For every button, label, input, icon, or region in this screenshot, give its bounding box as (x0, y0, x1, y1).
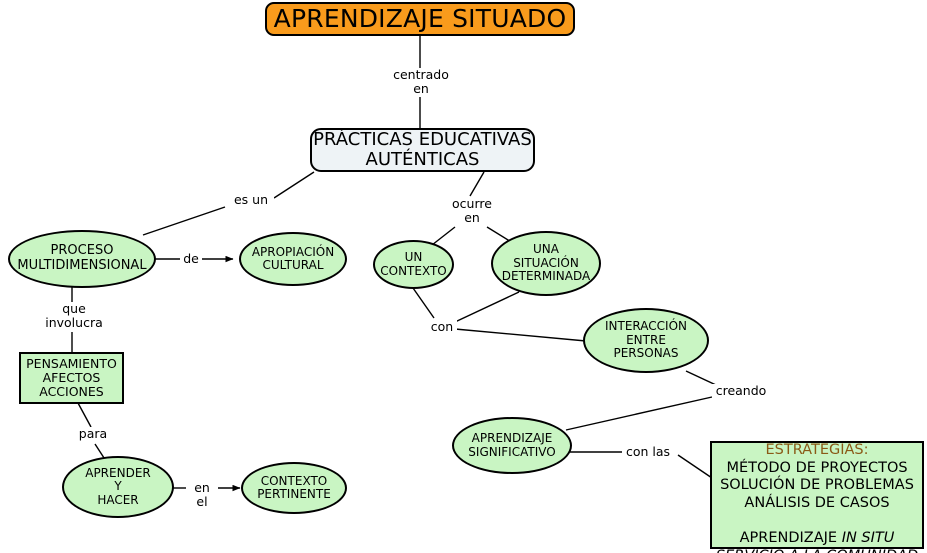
edge-label-ocurre-en: ocurre en (444, 197, 500, 226)
estrategias-heading: ESTRATEGIAS (765, 442, 863, 458)
edge-esun-to-proceso (143, 207, 225, 235)
estrategias-heading-colon: : (864, 442, 869, 458)
edge-label-es-un: es un (228, 193, 274, 207)
node-aprender-y-hacer[interactable]: APRENDER Y HACER (62, 456, 174, 518)
edge-con-to-interaccion (455, 329, 586, 341)
node-estrategias[interactable]: ESTRATEGIAS: MÉTODO DE PROYECTOS SOLUCIÓ… (710, 441, 924, 549)
node-apropiacion-cultural[interactable]: APROPIACIÓN CULTURAL (239, 232, 347, 286)
edge-interaccion-to-creando (686, 371, 716, 385)
edge-contexto-to-con (413, 288, 434, 318)
edge-label-creando: creando (712, 384, 770, 398)
edge-label-con-las: con las (622, 445, 674, 459)
edge-practicas-to-esun (274, 172, 314, 198)
edge-label-con: con (427, 320, 457, 334)
edge-label-en-el: en el (186, 481, 218, 510)
edge-ocurreen-to-contexto (432, 227, 455, 245)
node-contexto-pertinente[interactable]: CONTEXTO PERTINENTE (241, 462, 347, 514)
node-una-situacion-determinada[interactable]: UNA SITUACIÓN DETERMINADA (491, 231, 601, 296)
edge-label-para: para (76, 427, 110, 441)
estrategias-line-servicio-comunidad: SERVICIO A LA COMUNIDAD (716, 548, 918, 553)
estrategias-line-solucion: SOLUCIÓN DE PROBLEMAS (720, 477, 914, 495)
estrategias-heading-line: ESTRATEGIAS: (765, 424, 868, 459)
edge-label-centrado-en: centrado en (388, 68, 454, 97)
edge-label-de: de (180, 252, 202, 266)
node-aprendizaje-significativo[interactable]: APRENDIZAJE SIGNIFICATIVO (452, 417, 572, 474)
edge-creando-to-aprendizajesignificativo (566, 397, 712, 430)
estrategias-line-metodo: MÉTODO DE PROYECTOS (726, 460, 907, 478)
edge-conlas-to-estrategias (678, 455, 712, 478)
concept-map: APRENDIZAJE SITUADO PRÁCTICAS EDUCATIVAS… (0, 0, 927, 553)
node-interaccion-entre-personas[interactable]: INTERACCIÓN ENTRE PERSONAS (583, 308, 709, 373)
estrategias-in-situ: IN SITU (842, 530, 895, 546)
edge-practicas-to-ocurreen (470, 172, 484, 196)
node-practicas-educativas-autenticas[interactable]: PRÁCTICAS EDUCATIVAS AUTÉNTICAS (310, 128, 535, 172)
node-proceso-multidimensional[interactable]: PROCESO MULTIDIMENSIONAL (8, 230, 156, 288)
edge-pensamiento-to-para (78, 403, 91, 427)
node-aprendizaje-situado[interactable]: APRENDIZAJE SITUADO (265, 2, 575, 36)
edge-situacion-to-con (455, 292, 519, 322)
estrategias-line-analisis: ANÁLISIS DE CASOS (744, 495, 889, 513)
estrategias-aprendizaje-prefix: APRENDIZAJE (740, 530, 842, 546)
edge-label-que-involucra: que involucra (42, 302, 106, 331)
node-un-contexto[interactable]: UN CONTEXTO (373, 240, 454, 289)
estrategias-line-aprendizaje-in-situ: APRENDIZAJE IN SITU (740, 513, 895, 548)
node-pensamiento-afectos-acciones[interactable]: PENSAMIENTO AFECTOS ACCIONES (19, 352, 124, 404)
